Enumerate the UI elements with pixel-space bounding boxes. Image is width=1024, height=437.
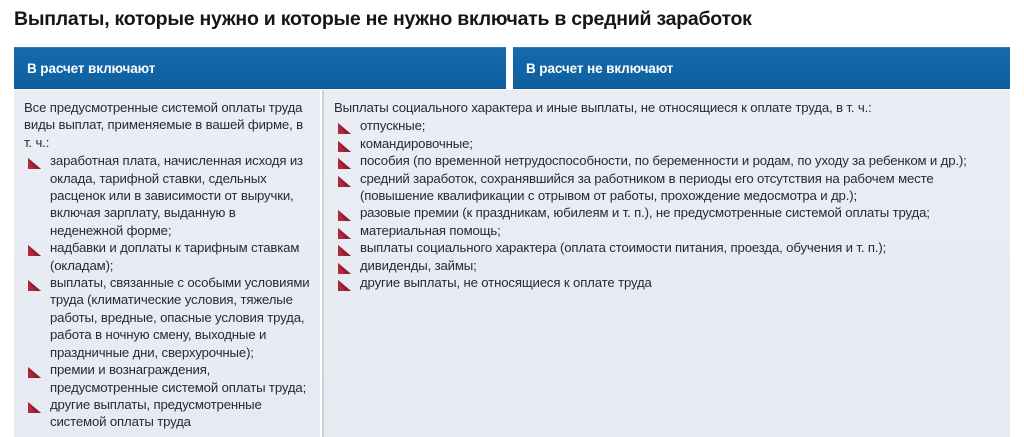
arrow-bullet-icon: [28, 278, 41, 289]
excluded-intro-text: Выплаты социального характера и иные вып…: [334, 99, 1000, 116]
table-header-excluded-label: В расчет не включают: [526, 61, 673, 76]
list-item-label: заработная плата, начисленная исходя из …: [50, 152, 310, 239]
list-item: пособия (по временной нетрудоспособности…: [334, 152, 1000, 169]
included-intro-text: Все предусмотренные системой оплаты труд…: [24, 99, 310, 151]
arrow-bullet-icon: [28, 156, 41, 167]
list-item-label: командировочные;: [360, 135, 1000, 152]
table-header-included-label: В расчет включают: [27, 61, 155, 76]
arrow-bullet-icon: [338, 174, 351, 185]
list-item-label: материальная помощь;: [360, 222, 1000, 239]
list-item: другие выплаты, предусмотренные системой…: [24, 396, 310, 431]
body-column-divider: [320, 90, 324, 437]
arrow-bullet-icon: [28, 243, 41, 254]
list-item: командировочные;: [334, 135, 1000, 152]
comparison-table: В расчет включают В расчет не включают В…: [14, 47, 1010, 431]
included-list: заработная плата, начисленная исходя из …: [24, 152, 310, 431]
list-item-label: отпускные;: [360, 117, 1000, 134]
arrow-bullet-icon: [338, 156, 351, 167]
arrow-bullet-icon: [338, 261, 351, 272]
list-item: другие выплаты, не относящиеся к оплате …: [334, 274, 1000, 291]
list-item: заработная плата, начисленная исходя из …: [24, 152, 310, 239]
table-cell-excluded: Выплаты социального характера и иные вып…: [324, 90, 1010, 437]
table-body-row: Все предусмотренные системой оплаты труд…: [14, 89, 1010, 437]
arrow-bullet-icon: [338, 139, 351, 150]
list-item: материальная помощь;: [334, 222, 1000, 239]
list-item-label: выплаты, связанные с особыми условиями т…: [50, 274, 310, 361]
table-header-row: В расчет включают В расчет не включают: [14, 47, 1010, 89]
table-header-included: В расчет включают: [14, 47, 506, 89]
list-item: разовые премии (к праздникам, юбилеям и …: [334, 204, 1000, 221]
excluded-list: отпускные; командировочные;: [334, 117, 1000, 291]
arrow-bullet-icon: [338, 208, 351, 219]
list-item-label: другие выплаты, не относящиеся к оплате …: [360, 274, 1000, 291]
list-item: выплаты социального характера (оплата ст…: [334, 239, 1000, 256]
list-item-label: дивиденды, займы;: [360, 257, 1000, 274]
list-item-label: надбавки и доплаты к тарифным ставкам (о…: [50, 239, 310, 274]
arrow-bullet-icon: [28, 400, 41, 411]
arrow-bullet-icon: [338, 121, 351, 132]
document-page: Выплаты, которые нужно и которые не нужн…: [0, 0, 1024, 437]
list-item-label: разовые премии (к праздникам, юбилеям и …: [360, 204, 1000, 221]
page-title: Выплаты, которые нужно и которые не нужн…: [14, 6, 1010, 32]
list-item: премии и вознаграждения, предусмотренные…: [24, 361, 310, 396]
list-item: выплаты, связанные с особыми условиями т…: [24, 274, 310, 361]
list-item: надбавки и доплаты к тарифным ставкам (о…: [24, 239, 310, 274]
list-item-label: другие выплаты, предусмотренные системой…: [50, 396, 310, 431]
arrow-bullet-icon: [338, 278, 351, 289]
list-item: дивиденды, займы;: [334, 257, 1000, 274]
list-item-label: премии и вознаграждения, предусмотренные…: [50, 361, 310, 396]
table-cell-included: Все предусмотренные системой оплаты труд…: [14, 90, 320, 437]
arrow-bullet-icon: [338, 226, 351, 237]
list-item-label: пособия (по временной нетрудоспособности…: [360, 152, 1000, 169]
list-item-label: выплаты социального характера (оплата ст…: [360, 239, 1000, 256]
header-column-divider: [506, 47, 513, 89]
list-item-label: средний заработок, сохранявшийся за рабо…: [360, 170, 1000, 205]
list-item: отпускные;: [334, 117, 1000, 134]
arrow-bullet-icon: [338, 243, 351, 254]
arrow-bullet-icon: [28, 365, 41, 376]
table-header-excluded: В расчет не включают: [513, 47, 1010, 89]
list-item: средний заработок, сохранявшийся за рабо…: [334, 170, 1000, 205]
